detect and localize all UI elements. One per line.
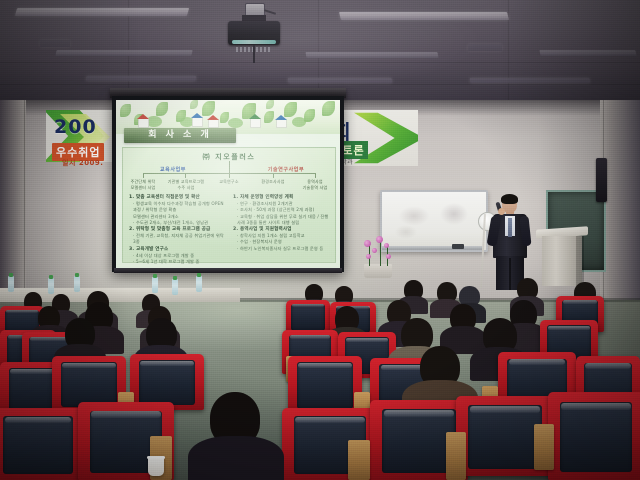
slide-bullet: 1. 맞춤 교육센터 직접운영 및 확산 bbox=[129, 195, 200, 200]
screen-bottom-bar bbox=[114, 268, 342, 273]
presenter-right-arm bbox=[519, 216, 531, 247]
slide-bullets-left: 1. 맞춤 교육센터 직접운영 및 확산 · 평생교육 이수자 다수과정 학습형… bbox=[129, 194, 225, 265]
orchid-plant bbox=[356, 236, 400, 278]
seat-highlight bbox=[290, 335, 330, 339]
projector-body bbox=[228, 21, 280, 45]
slide-org-node: 주간단체 위탁 모델센터 사업 bbox=[125, 179, 161, 190]
projection-screen: 회 사 소 개 ㈜ 지오플러스 교육사업부 기술연구사업부 주간단체 위탁 모델… bbox=[116, 100, 340, 268]
auditorium-seat[interactable] bbox=[288, 356, 362, 414]
seat-highlight bbox=[62, 363, 115, 368]
paper-cup bbox=[148, 456, 164, 476]
projector-arm bbox=[242, 15, 266, 23]
water-bottle bbox=[74, 276, 80, 292]
slide-body: ㈜ 지오플러스 교육사업부 기술연구사업부 주간단체 위탁 모델센터 사업 기관… bbox=[122, 147, 336, 263]
seat-highlight bbox=[5, 417, 71, 423]
orchid-bloom bbox=[372, 248, 377, 253]
water-bottle bbox=[8, 276, 14, 292]
person-shoulders bbox=[188, 436, 284, 480]
slide-column-head-left: 교육사업부 bbox=[143, 166, 203, 173]
orchid-bloom bbox=[364, 240, 371, 247]
orchid-bloom bbox=[376, 236, 383, 243]
presenter-necktie bbox=[508, 218, 512, 237]
wall-speaker bbox=[596, 158, 607, 202]
seat-cushion bbox=[61, 362, 117, 407]
house-icon bbox=[250, 118, 261, 128]
slide-org-node: 환경조사사업 bbox=[255, 179, 291, 185]
seat-armrest bbox=[348, 440, 370, 480]
lectern-shadow bbox=[576, 236, 584, 286]
fluorescent-light bbox=[468, 44, 502, 51]
right-wall bbox=[600, 100, 640, 312]
slide-bullet: 3. 교육개발 연구소 bbox=[129, 247, 168, 252]
seat-highlight bbox=[295, 417, 364, 423]
slide-bullet: · 평생교육 이수자 다수과정 학습형 공개형 OPEN 과정 / 위탁형 운영… bbox=[129, 201, 225, 213]
fluorescent-light bbox=[539, 50, 636, 56]
seat-cushion bbox=[139, 360, 195, 405]
banner-year: 200 bbox=[54, 116, 97, 138]
fluorescent-light bbox=[288, 78, 393, 83]
fluorescent-light bbox=[55, 50, 192, 56]
fluorescent-light bbox=[86, 76, 197, 81]
slide-column-head-right: 기술연구사업부 bbox=[251, 166, 321, 173]
presenter-hair bbox=[501, 194, 518, 204]
seat-highlight bbox=[140, 361, 193, 366]
seat-cushion bbox=[297, 362, 353, 408]
auditorium-seat[interactable] bbox=[548, 392, 640, 480]
orchid-bloom bbox=[386, 254, 391, 259]
seat-highlight bbox=[298, 363, 351, 368]
fluorescent-light bbox=[470, 78, 591, 83]
wall-seam bbox=[24, 100, 25, 312]
seat-cushion bbox=[3, 416, 73, 474]
slide-bullet: · 하반기 노인복지종사자 실무 프로그램 운영 등 bbox=[233, 246, 331, 252]
seat-highlight bbox=[470, 406, 541, 413]
auditorium-seat[interactable] bbox=[0, 408, 84, 480]
seat-armrest bbox=[446, 432, 466, 480]
auditorium-seat[interactable] bbox=[286, 300, 330, 334]
orchid-bloom bbox=[384, 243, 389, 248]
banner-date: 일시 2009. bbox=[62, 158, 103, 168]
seat-highlight bbox=[91, 411, 160, 418]
projector-lens-icon bbox=[232, 40, 276, 44]
fluorescent-light bbox=[339, 12, 509, 20]
audience-member bbox=[188, 392, 284, 480]
seat-highlight bbox=[548, 326, 590, 330]
presenter-hand bbox=[498, 208, 505, 215]
slide-bullet: · 교육형 · 취업 상담을 위한 무료 실기 대응 / 진행사례 3종을 통한… bbox=[233, 214, 331, 226]
projector-mount bbox=[245, 3, 265, 18]
seat-highlight bbox=[509, 359, 565, 364]
seat-highlight bbox=[292, 304, 324, 307]
water-bottle bbox=[172, 279, 178, 295]
fluorescent-light bbox=[15, 8, 189, 16]
seat-highlight bbox=[384, 410, 455, 417]
house-icon bbox=[138, 118, 149, 128]
projector-brand-text bbox=[236, 47, 270, 52]
slide-bullet: 2. 용역사업 및 지원협력사업 bbox=[233, 227, 292, 232]
fluorescent-light bbox=[40, 40, 70, 47]
water-bottle bbox=[152, 277, 158, 293]
ceiling-projector bbox=[228, 3, 280, 49]
seat-highlight bbox=[346, 338, 388, 342]
projector-hanging-cable bbox=[253, 45, 255, 63]
whiteboard-eraser bbox=[452, 244, 464, 249]
slide-bullet: 2. 위탁형 및 맞춤형 교육 프로그램 공급 bbox=[129, 227, 210, 232]
slide-bullets-right: 1. 자체 운영형 인력양성 계획 · 연구 · 환경조사지원 2개기관 · 조… bbox=[233, 194, 331, 252]
slide-org-node: 용역사업 기술용역 사업 bbox=[297, 179, 333, 190]
house-icon bbox=[208, 119, 219, 128]
seat-armrest bbox=[534, 424, 554, 470]
orchid-bloom bbox=[366, 254, 371, 259]
seat-cushion bbox=[468, 405, 542, 469]
seat-highlight bbox=[563, 300, 598, 303]
house-icon bbox=[192, 117, 203, 127]
auditorium-photo: 200 우수취업 일시 2009. 수회 공전학토론 학교 환경공학과 bbox=[0, 0, 640, 480]
slide-org-node: 교육연구소 bbox=[213, 179, 245, 185]
plant-pot bbox=[364, 264, 392, 278]
slide-bullet: · 수도권 2개소, 부산/대전 1개소, 영남권 bbox=[129, 220, 225, 226]
seat-cushion bbox=[291, 304, 324, 331]
slide-bullet: · 전체 기관, 교육청, 지자체 공공 취업기관에 위탁 3종 bbox=[129, 233, 225, 245]
slide-bullet: 1. 자체 운영형 인력양성 계획 bbox=[233, 195, 293, 200]
seat-highlight bbox=[561, 403, 630, 411]
projector-cable bbox=[264, 9, 276, 15]
fluorescent-light bbox=[305, 52, 438, 58]
slide-bullet: · 5~6세 1년 대학 프로그램 개발 중 bbox=[129, 259, 225, 265]
water-bottle bbox=[196, 276, 202, 292]
slide-org-node: 기관별 교육프로그램 수주 사업 bbox=[167, 179, 205, 190]
seat-highlight bbox=[585, 363, 631, 368]
slide-title: 회 사 소 개 bbox=[128, 130, 232, 141]
seat-cushion bbox=[560, 402, 633, 472]
house-icon bbox=[276, 119, 287, 128]
